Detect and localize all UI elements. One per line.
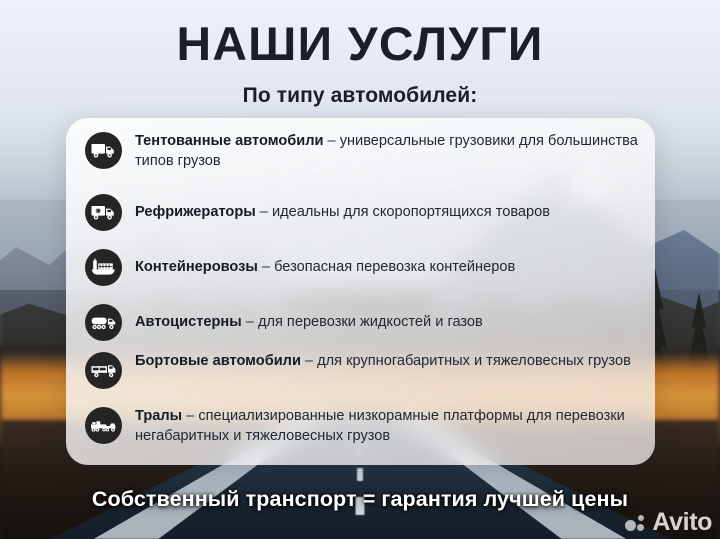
service-name: Рефрижераторы xyxy=(135,204,256,220)
list-item-text: Автоцистерны – для перевозки жидкостей и… xyxy=(135,311,483,332)
service-description: безопасная перевозка контейнеров xyxy=(274,259,515,275)
service-name: Контейнеровозы xyxy=(135,259,258,275)
service-separator: – xyxy=(301,353,317,369)
avito-watermark: Avito xyxy=(625,510,712,535)
list-item: Тралы – специализированные низкорамные п… xyxy=(85,405,645,457)
footer-tagline: Собственный транспорт = гарантия лучшей … xyxy=(0,487,720,512)
box-truck-icon xyxy=(85,132,122,169)
service-description: специализированные низкорамные платформы… xyxy=(135,408,625,444)
page-subtitle: По типу автомобилей: xyxy=(0,84,720,108)
page-title: НАШИ УСЛУГИ xyxy=(0,16,720,71)
service-name: Бортовые автомобили xyxy=(135,353,301,369)
lowboy-trailer-icon xyxy=(85,407,122,444)
service-description: идеальны для скоропортящихся товаров xyxy=(272,204,550,220)
service-poster: НАШИ УСЛУГИ По типу автомобилей: Тентова… xyxy=(0,0,720,539)
service-separator: – xyxy=(182,408,198,424)
service-separator: – xyxy=(242,314,258,330)
service-name: Автоцистерны xyxy=(135,314,242,330)
service-separator: – xyxy=(323,133,339,149)
avito-wordmark: Avito xyxy=(652,510,712,535)
service-name: Тентованные автомобили xyxy=(135,133,323,149)
list-item-text: Рефрижераторы – идеальны для скоропортящ… xyxy=(135,201,550,222)
services-card: Тентованные автомобили – универсальные г… xyxy=(66,118,655,465)
list-item: Бортовые автомобили – для крупногабаритн… xyxy=(85,350,645,402)
list-item-text: Тентованные автомобили – универсальные г… xyxy=(135,130,645,171)
container-ship-icon xyxy=(85,249,122,286)
avito-logo-icon xyxy=(625,513,650,532)
services-list: Тентованные автомобили – универсальные г… xyxy=(85,130,645,460)
service-separator: – xyxy=(256,204,272,220)
list-item-text: Бортовые автомобили – для крупногабаритн… xyxy=(135,350,631,371)
refrigerator-truck-icon xyxy=(85,194,122,231)
list-item-text: Контейнеровозы – безопасная перевозка ко… xyxy=(135,256,515,277)
list-item: Автоцистерны – для перевозки жидкостей и… xyxy=(85,295,645,347)
list-item: Тентованные автомобили – универсальные г… xyxy=(85,130,645,182)
road-center-dash xyxy=(357,468,363,481)
service-description: для перевозки жидкостей и газов xyxy=(258,314,483,330)
service-separator: – xyxy=(258,259,274,275)
list-item: Рефрижераторы – идеальны для скоропортящ… xyxy=(85,185,645,237)
service-description: для крупногабаритных и тяжеловесных груз… xyxy=(317,353,631,369)
list-item-text: Тралы – специализированные низкорамные п… xyxy=(135,405,645,446)
tanker-truck-icon xyxy=(85,304,122,341)
flatbed-truck-icon xyxy=(85,352,122,389)
list-item: Контейнеровозы – безопасная перевозка ко… xyxy=(85,240,645,292)
service-name: Тралы xyxy=(135,408,182,424)
